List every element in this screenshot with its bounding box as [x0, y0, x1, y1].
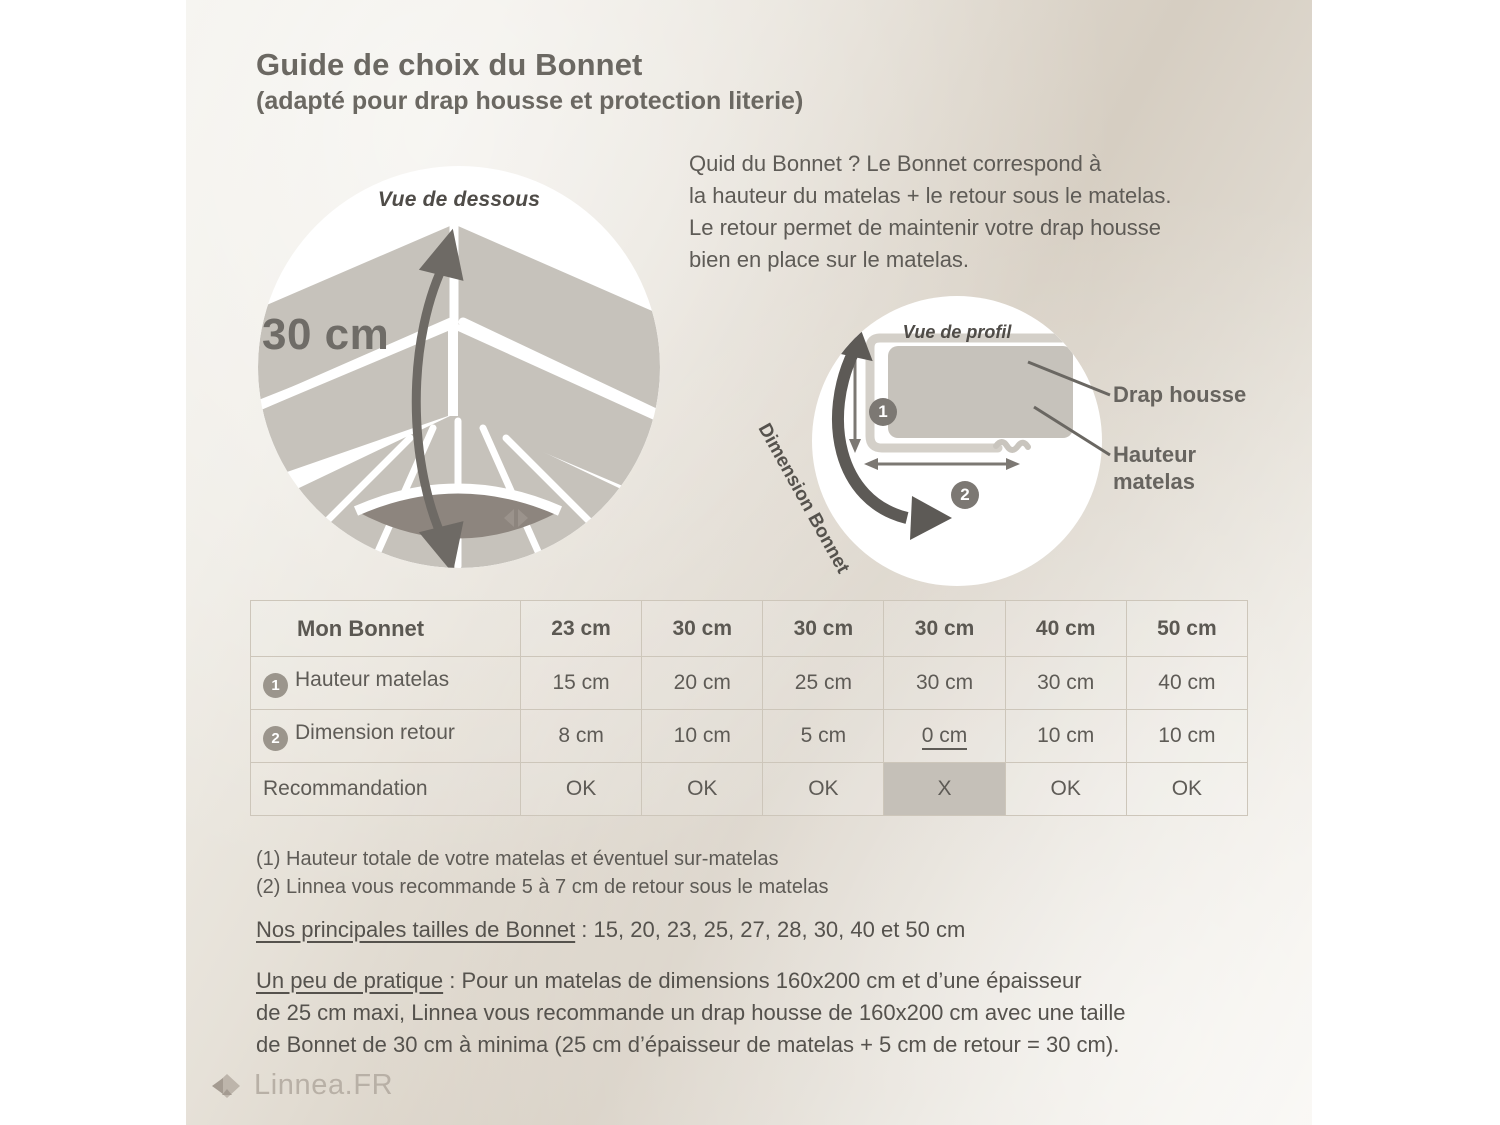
practice-line-1: Un peu de pratique : Pour un matelas de …	[256, 965, 1256, 997]
practice-block: Un peu de pratique : Pour un matelas de …	[256, 965, 1256, 1061]
principal-sizes-line: Nos principales tailles de Bonnet : 15, …	[256, 915, 1256, 946]
table-cell-underlined-value: 0 cm	[922, 724, 968, 750]
table-body: Mon Bonnet23 cm30 cm30 cm30 cm40 cm50 cm…	[251, 601, 1248, 816]
table-cell: 25 cm	[763, 657, 884, 710]
table-row-label: Recommandation	[251, 763, 521, 816]
row-label-text: Recommandation	[263, 777, 428, 800]
row-label-text: Dimension retour	[295, 721, 455, 744]
table-cell: 50 cm	[1126, 601, 1247, 657]
principal-sizes-label: Nos principales tailles de Bonnet	[256, 917, 575, 942]
page-subtitle: (adapté pour drap housse et protection l…	[256, 86, 1076, 117]
table-cell: OK	[763, 763, 884, 816]
table-cell: 30 cm	[884, 601, 1005, 657]
table-cell: 5 cm	[763, 710, 884, 763]
diagram-bottom-view: Vue de dessous 30 cm	[258, 166, 660, 568]
practice-text-1: : Pour un matelas de dimensions 160x200 …	[443, 968, 1081, 993]
callout-drap-housse: Drap housse	[1113, 382, 1246, 408]
table-cell: 20 cm	[642, 657, 763, 710]
callout-hauteur-matelas: Hauteur matelas	[1113, 441, 1196, 496]
table-row-label: 2Dimension retour	[251, 710, 521, 763]
bonnet-size-table: Mon Bonnet23 cm30 cm30 cm30 cm40 cm50 cm…	[250, 600, 1248, 816]
page-title: Guide de choix du Bonnet	[256, 46, 1076, 84]
practice-line-2: de 25 cm maxi, Linnea vous recommande un…	[256, 997, 1256, 1029]
profile-badge-2: 2	[951, 481, 979, 509]
table-row-label: Mon Bonnet	[251, 601, 521, 657]
practice-label: Un peu de pratique	[256, 968, 443, 993]
bottom-view-caption: Vue de dessous	[258, 188, 660, 212]
intro-line-2: la hauteur du matelas + le retour sous l…	[689, 180, 1269, 212]
table-cell: 8 cm	[521, 710, 642, 763]
table-cell: 30 cm	[1005, 657, 1126, 710]
intro-line-4: bien en place sur le matelas.	[689, 244, 1269, 276]
table-row: 2Dimension retour8 cm10 cm5 cm0 cm10 cm1…	[251, 710, 1248, 763]
table-cell: OK	[521, 763, 642, 816]
linnea-logo[interactable]: Linnea.FR	[210, 1069, 393, 1102]
bottom-view-measure-label: 30 cm	[262, 310, 389, 360]
row-number-badge: 1	[263, 673, 288, 698]
row-label-text: Hauteur matelas	[295, 668, 449, 691]
table-cell: OK	[1126, 763, 1247, 816]
table-cell: 40 cm	[1005, 601, 1126, 657]
linnea-logo-text: Linnea.FR	[254, 1069, 393, 1102]
table-row: 1Hauteur matelas15 cm20 cm25 cm30 cm30 c…	[251, 657, 1248, 710]
table-cell: 30 cm	[642, 601, 763, 657]
table-cell: 23 cm	[521, 601, 642, 657]
table-cell: 10 cm	[642, 710, 763, 763]
table-cell-warning: X	[884, 763, 1005, 816]
row-number-badge: 2	[263, 726, 288, 751]
footnote-1: (1) Hauteur totale de votre matelas et é…	[256, 845, 1236, 873]
callout-hauteur-line1: Hauteur	[1113, 441, 1196, 468]
profile-badge-1: 1	[869, 398, 897, 426]
table-row-label: 1Hauteur matelas	[251, 657, 521, 710]
table-cell: 10 cm	[1005, 710, 1126, 763]
principal-sizes-values: : 15, 20, 23, 25, 27, 28, 30, 40 et 50 c…	[575, 917, 965, 942]
practice-line-3: de Bonnet de 30 cm à minima (25 cm d’épa…	[256, 1029, 1256, 1061]
footnote-2: (2) Linnea vous recommande 5 à 7 cm de r…	[256, 873, 1236, 901]
callout-leader-lines	[1020, 355, 1120, 485]
header-block: Guide de choix du Bonnet (adapté pour dr…	[256, 46, 1076, 117]
intro-paragraph: Quid du Bonnet ? Le Bonnet correspond à …	[689, 148, 1269, 276]
table-cell: 30 cm	[884, 657, 1005, 710]
bottom-view-disc	[258, 166, 660, 568]
table-cell: 10 cm	[1126, 710, 1247, 763]
poster-canvas: Guide de choix du Bonnet (adapté pour dr…	[0, 0, 1500, 1125]
bottom-view-illustration	[258, 166, 660, 568]
table-cell: 15 cm	[521, 657, 642, 710]
intro-line-1: Quid du Bonnet ? Le Bonnet correspond à	[689, 148, 1269, 180]
profile-view-caption: Vue de profil	[812, 322, 1102, 343]
table-cell: OK	[642, 763, 763, 816]
table-row: RecommandationOKOKOKXOKOK	[251, 763, 1248, 816]
table-row: Mon Bonnet23 cm30 cm30 cm30 cm40 cm50 cm	[251, 601, 1248, 657]
table-cell: OK	[1005, 763, 1126, 816]
diamond-logo-icon	[210, 1071, 244, 1101]
table-cell: 40 cm	[1126, 657, 1247, 710]
footnotes-block: (1) Hauteur totale de votre matelas et é…	[256, 845, 1236, 902]
row-label-text: Mon Bonnet	[297, 616, 424, 641]
callout-hauteur-line2: matelas	[1113, 468, 1196, 495]
intro-line-3: Le retour permet de maintenir votre drap…	[689, 212, 1269, 244]
table-cell: 0 cm	[884, 710, 1005, 763]
